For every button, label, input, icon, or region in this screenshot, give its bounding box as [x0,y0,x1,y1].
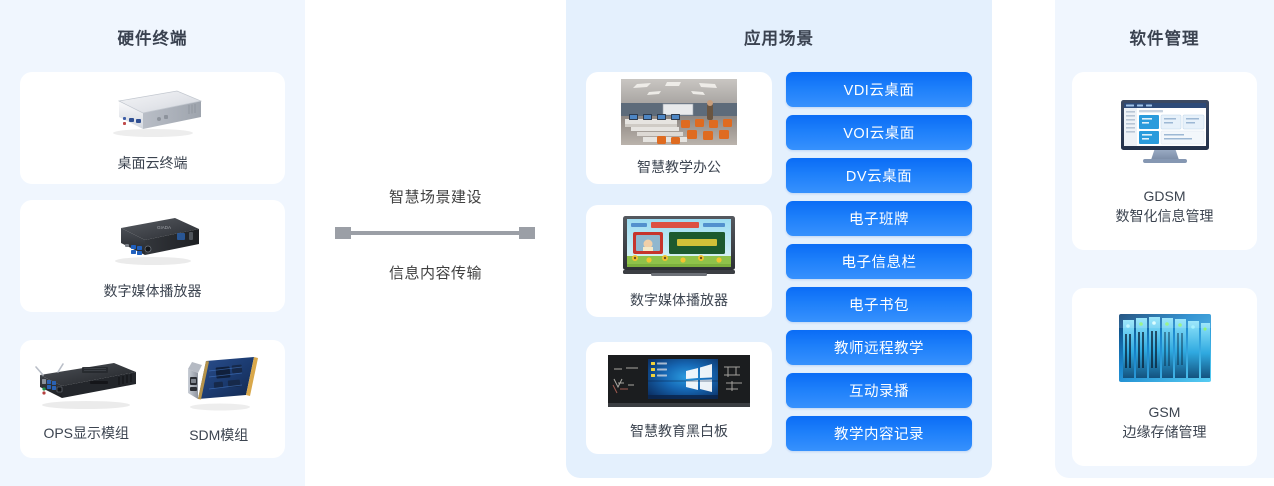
scenario-button-electronic-class-board[interactable]: 电子班牌 [786,201,972,236]
card-gdsm-information-management[interactable]: GDSM 数智化信息管理 [1072,72,1257,250]
diagram-canvas: 硬件终端 [0,0,1274,486]
card-label: 数字媒体播放器 [104,282,202,302]
card-label: 智慧教学办公 [637,158,721,178]
panel-hardware-terminals: 硬件终端 [0,0,305,486]
double-headed-arrow-icon [335,222,535,244]
svg-text:GIADA: GIADA [157,225,171,230]
card-label: 桌面云终端 [118,154,188,174]
scenario-button-teacher-remote-teaching[interactable]: 教师远程教学 [786,330,972,365]
panel-application-scenarios: 应用场景 [566,0,992,478]
connector-label-bottom: 信息内容传输 [305,262,566,283]
smart-blackboard-photo [608,355,750,414]
scenario-button-interactive-recording[interactable]: 互动录播 [786,373,972,408]
card-label: GDSM 数智化信息管理 [1116,187,1214,226]
card-desktop-cloud-terminal[interactable]: 桌面云终端 [20,72,285,184]
panel-title-software: 软件管理 [1055,25,1274,49]
desktop-monitor-dashboard-icon [1117,96,1213,173]
card-gsm-edge-storage-management[interactable]: GSM 边缘存储管理 [1072,288,1257,466]
interactive-display-photo [621,212,737,283]
scenario-button-dv-cloud-desktop[interactable]: DV云桌面 [786,158,972,193]
card-smart-teaching-office[interactable]: 智慧教学办公 [586,72,772,184]
ops-module-icon [30,355,142,416]
connector-label-top: 智慧场景建设 [305,186,566,207]
card-digital-media-player[interactable]: GIADA 数字媒体播放器 [20,200,285,312]
card-label: GSM 边缘存储管理 [1123,403,1207,442]
card-label: SDM模组 [189,426,248,446]
scenario-button-list: VDI云桌面 VOI云桌面 DV云桌面 电子班牌 电子信息栏 电子书包 教师远程… [786,72,972,451]
card-ops-display-module[interactable]: OPS显示模组 [23,355,150,444]
media-player-box-icon: GIADA [101,211,205,272]
scenario-button-teaching-content-record[interactable]: 教学内容记录 [786,416,972,451]
scenario-button-vdi-cloud-desktop[interactable]: VDI云桌面 [786,72,972,107]
card-display-modules: OPS显示模组 [20,340,285,458]
panel-software-management: 软件管理 [1055,0,1274,478]
card-label: OPS显示模组 [43,424,129,444]
thin-client-device-icon [101,83,205,144]
panel-title-scenes: 应用场景 [566,25,992,49]
scenario-button-electronic-info-board[interactable]: 电子信息栏 [786,244,972,279]
scenario-button-voi-cloud-desktop[interactable]: VOI云桌面 [786,115,972,150]
card-smart-education-blackboard[interactable]: 智慧教育黑白板 [586,342,772,454]
card-label: 智慧教育黑白板 [630,422,728,442]
computer-classroom-photo [621,79,737,150]
card-digital-media-player-scene[interactable]: 数字媒体播放器 [586,205,772,317]
card-label: 数字媒体播放器 [630,291,728,311]
panel-title-hardware: 硬件终端 [0,25,305,49]
storage-server-array-icon [1119,312,1211,389]
sdm-module-card-icon [176,353,262,418]
scenario-button-electronic-schoolbag[interactable]: 电子书包 [786,287,972,322]
connector-column: 智慧场景建设 信息内容传输 [305,0,566,486]
card-sdm-module[interactable]: SDM模组 [155,353,282,446]
